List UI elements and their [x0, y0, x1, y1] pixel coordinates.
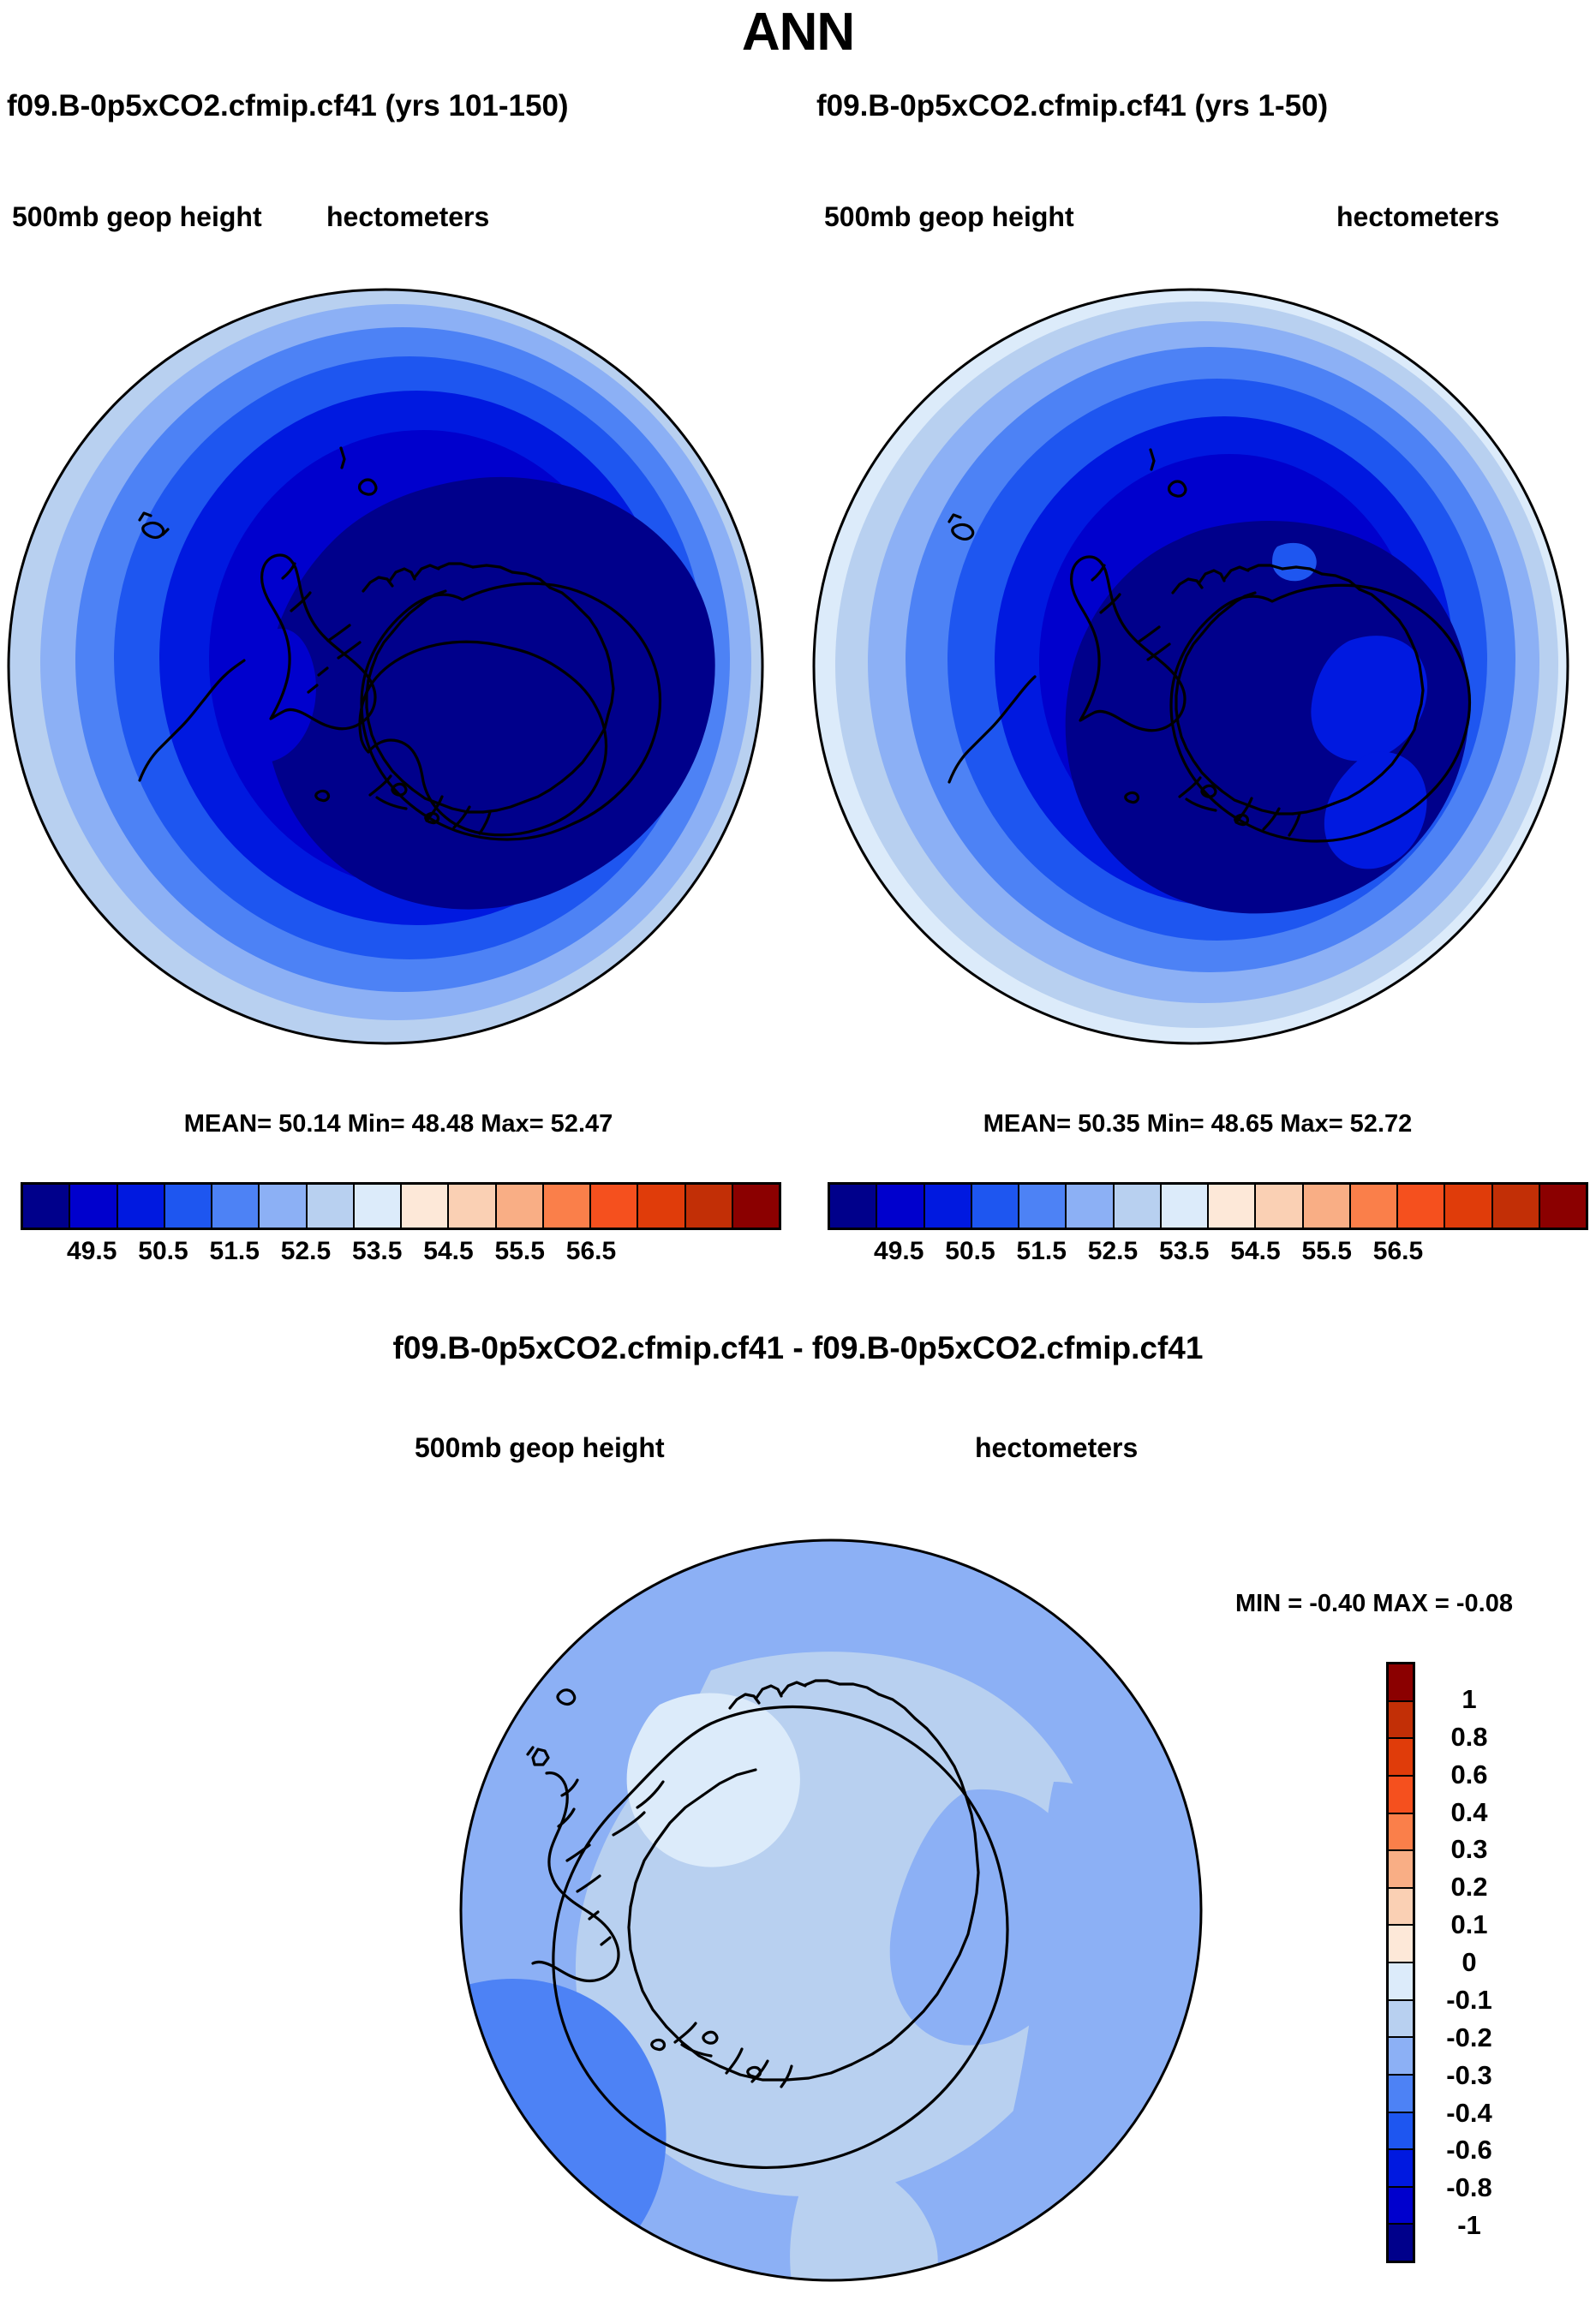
- colorbar-cell-14: [1493, 1185, 1540, 1228]
- colorbar-tick-4: 53.5: [1159, 1237, 1209, 1266]
- colorbar-cell-14: [686, 1185, 733, 1228]
- colorbar-cell-8: [402, 1185, 449, 1228]
- diff-colorbar-tick-0: 1: [1422, 1684, 1516, 1715]
- diff-colorbar-cell-12: [1389, 2113, 1413, 2151]
- colorbar-cell-15: [733, 1185, 779, 1228]
- diff-colorbar-cell-9: [1389, 2001, 1413, 2039]
- colorbar-cell-3: [972, 1185, 1019, 1228]
- colorbar-cell-1: [70, 1185, 117, 1228]
- left-colorbar: 49.550.551.552.553.554.555.556.5: [21, 1182, 781, 1275]
- colorbar-tick-5: 54.5: [423, 1237, 473, 1266]
- colorbar-cell-6: [1115, 1185, 1162, 1228]
- diff-colorbar-cell-11: [1389, 2076, 1413, 2113]
- diff-colorbar-cell-10: [1389, 2038, 1413, 2076]
- diff-colorbar-tick-9: -0.2: [1422, 2022, 1516, 2053]
- diff-panel-field-label: 500mb geop height: [415, 1432, 665, 1464]
- diff-colorbar-tick-7: 0: [1422, 1947, 1516, 1978]
- diff-colorbar-cell-7: [1389, 1926, 1413, 1963]
- left-colorbar-strip: [21, 1182, 781, 1230]
- colorbar-cell-13: [1445, 1185, 1492, 1228]
- right-polar-map[interactable]: [801, 272, 1581, 1060]
- diff-panel-title: f09.B-0p5xCO2.cfmip.cf41 - f09.B-0p5xCO2…: [0, 1330, 1596, 1366]
- colorbar-cell-15: [1540, 1185, 1586, 1228]
- colorbar-tick-2: 51.5: [210, 1237, 260, 1266]
- colorbar-cell-9: [1256, 1185, 1303, 1228]
- colorbar-cell-5: [260, 1185, 307, 1228]
- colorbar-cell-0: [830, 1185, 877, 1228]
- right-panel-units-label: hectometers: [1336, 201, 1499, 233]
- colorbar-tick-3: 52.5: [281, 1237, 331, 1266]
- colorbar-tick-1: 50.5: [945, 1237, 995, 1266]
- diff-colorbar-cell-15: [1389, 2225, 1413, 2261]
- colorbar-cell-7: [1162, 1185, 1209, 1228]
- colorbar-cell-12: [1398, 1185, 1445, 1228]
- page-title: ANN: [0, 2, 1596, 63]
- diff-colorbar-strip: [1386, 1662, 1415, 2263]
- diff-colorbar-tick-13: -0.8: [1422, 2172, 1516, 2203]
- diff-colorbar-tick-14: -1: [1422, 2210, 1516, 2241]
- diff-colorbar-tick-11: -0.4: [1422, 2098, 1516, 2129]
- colorbar-tick-1: 50.5: [138, 1237, 188, 1266]
- diff-colorbar-cell-8: [1389, 1963, 1413, 2001]
- colorbar-tick-2: 51.5: [1017, 1237, 1067, 1266]
- diff-colorbar-cell-5: [1389, 1851, 1413, 1889]
- colorbar-cell-4: [212, 1185, 260, 1228]
- diff-colorbar-cell-3: [1389, 1777, 1413, 1814]
- diff-colorbar-cell-1: [1389, 1702, 1413, 1740]
- colorbar-tick-5: 54.5: [1230, 1237, 1280, 1266]
- diff-colorbar-tick-12: -0.6: [1422, 2135, 1516, 2166]
- diff-colorbar-cell-13: [1389, 2150, 1413, 2188]
- diff-colorbar-tick-6: 0.1: [1422, 1909, 1516, 1940]
- colorbar-cell-4: [1019, 1185, 1067, 1228]
- diff-panel-units-label: hectometers: [975, 1432, 1138, 1464]
- left-panel-units-label: hectometers: [326, 201, 489, 233]
- diff-colorbar-cell-4: [1389, 1814, 1413, 1852]
- diff-polar-map[interactable]: [454, 1525, 1208, 2296]
- colorbar-tick-4: 53.5: [352, 1237, 402, 1266]
- colorbar-cell-2: [925, 1185, 972, 1228]
- right-colorbar-ticks: 49.550.551.552.553.554.555.556.5: [828, 1237, 1588, 1275]
- left-panel-title: f09.B-0p5xCO2.cfmip.cf41 (yrs 101-150): [7, 89, 569, 123]
- right-colorbar: 49.550.551.552.553.554.555.556.5: [828, 1182, 1588, 1275]
- colorbar-cell-6: [308, 1185, 355, 1228]
- right-panel-field-label: 500mb geop height: [824, 201, 1074, 233]
- colorbar-cell-11: [1351, 1185, 1398, 1228]
- left-colorbar-ticks: 49.550.551.552.553.554.555.556.5: [21, 1237, 781, 1275]
- diff-colorbar-tick-10: -0.3: [1422, 2060, 1516, 2091]
- colorbar-cell-12: [591, 1185, 638, 1228]
- colorbar-tick-7: 56.5: [566, 1237, 616, 1266]
- diff-colorbar-ticks: 10.80.60.40.30.20.10-0.1-0.2-0.3-0.4-0.6…: [1422, 1662, 1516, 2263]
- left-polar-map[interactable]: [0, 272, 771, 1060]
- colorbar-tick-6: 55.5: [495, 1237, 545, 1266]
- colorbar-cell-7: [355, 1185, 402, 1228]
- colorbar-tick-0: 49.5: [67, 1237, 117, 1266]
- colorbar-cell-10: [1304, 1185, 1351, 1228]
- colorbar-tick-6: 55.5: [1302, 1237, 1352, 1266]
- diff-colorbar-tick-5: 0.2: [1422, 1872, 1516, 1903]
- colorbar-cell-5: [1067, 1185, 1114, 1228]
- colorbar-cell-10: [497, 1185, 544, 1228]
- left-panel-stats: MEAN= 50.14 Min= 48.48 Max= 52.47: [0, 1110, 797, 1138]
- colorbar-cell-13: [638, 1185, 685, 1228]
- right-panel-title: f09.B-0p5xCO2.cfmip.cf41 (yrs 1-50): [816, 89, 1328, 123]
- colorbar-cell-9: [449, 1185, 496, 1228]
- diff-panel-minmax: MIN = -0.40 MAX = -0.08: [1235, 1590, 1513, 1618]
- diff-colorbar-cell-6: [1389, 1889, 1413, 1927]
- diff-colorbar-cell-2: [1389, 1739, 1413, 1777]
- colorbar-cell-0: [23, 1185, 70, 1228]
- right-panel-stats: MEAN= 50.35 Min= 48.65 Max= 52.72: [799, 1110, 1596, 1138]
- diff-colorbar-cell-0: [1389, 1664, 1413, 1702]
- diff-colorbar-tick-3: 0.4: [1422, 1797, 1516, 1828]
- colorbar-cell-2: [118, 1185, 165, 1228]
- colorbar-cell-8: [1209, 1185, 1256, 1228]
- diff-colorbar-cell-14: [1389, 2188, 1413, 2225]
- diff-colorbar-tick-2: 0.6: [1422, 1759, 1516, 1790]
- colorbar-cell-11: [544, 1185, 591, 1228]
- right-colorbar-strip: [828, 1182, 1588, 1230]
- colorbar-tick-7: 56.5: [1373, 1237, 1423, 1266]
- colorbar-tick-3: 52.5: [1088, 1237, 1138, 1266]
- diff-colorbar-tick-1: 0.8: [1422, 1722, 1516, 1753]
- diff-colorbar-tick-4: 0.3: [1422, 1834, 1516, 1865]
- colorbar-tick-0: 49.5: [874, 1237, 924, 1266]
- diff-colorbar-tick-8: -0.1: [1422, 1985, 1516, 2016]
- colorbar-cell-1: [877, 1185, 924, 1228]
- colorbar-cell-3: [165, 1185, 212, 1228]
- left-panel-field-label: 500mb geop height: [12, 201, 262, 233]
